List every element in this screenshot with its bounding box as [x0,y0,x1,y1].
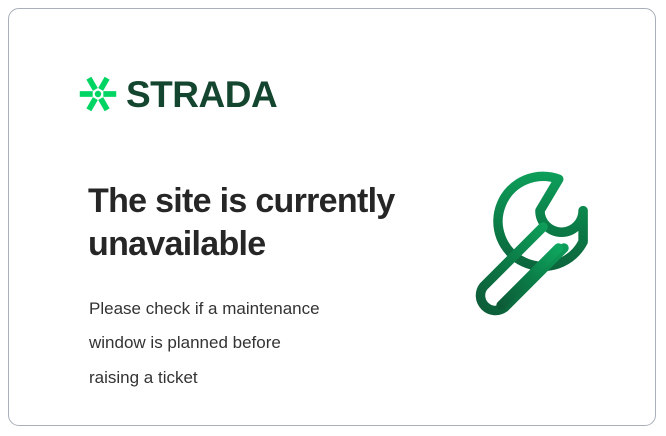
page-description-line-2: window is planned before [89,326,419,360]
page-description-line-3: raising a ticket [89,361,419,395]
brand-wordmark: STRADA [126,76,277,113]
wrench-icon [461,161,621,321]
page-description: Please check if a maintenance window is … [89,292,419,395]
message-card: STRADA The site is currently unavailable… [8,8,656,426]
page-title-line-2: unavailable [88,223,428,266]
page-title: The site is currently unavailable [88,180,428,266]
error-page: STRADA The site is currently unavailable… [0,0,666,436]
page-title-line-1: The site is currently [88,180,428,223]
page-description-line-1: Please check if a maintenance [89,292,419,326]
brand-logo: STRADA [79,75,277,113]
strada-asterisk-icon [79,75,117,113]
